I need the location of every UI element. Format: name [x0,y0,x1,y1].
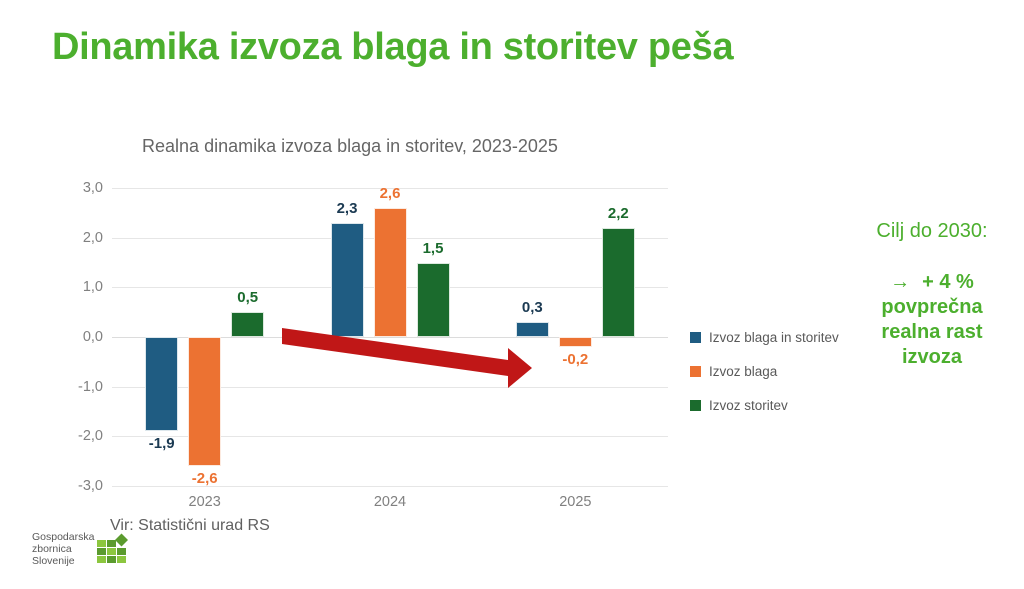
logo-text: Gospodarska zbornica Slovenije [32,531,94,567]
y-axis-tick-label: 1,0 [83,279,103,295]
bar-value-label: 2,3 [337,200,358,217]
bar-2024-series-2[interactable] [417,263,450,338]
legend-item-izvoz-blaga[interactable]: Izvoz blaga [690,354,865,388]
logo-grid-mark-icon [97,532,133,566]
y-axis-tick-label: -3,0 [78,478,103,494]
bar-value-label: 2,6 [380,185,401,202]
callout-line-2: povprečna [881,296,982,318]
callout-body: →+ 4 % povprečna realna rast izvoza [852,270,1012,370]
bar-2025-series-0[interactable] [516,322,549,337]
arrow-right-icon: → [890,271,910,293]
chart-title: Realna dinamika izvoza blaga in storitev… [0,136,700,157]
y-axis-tick-label: 3,0 [83,180,103,196]
source-note: Vir: Statistični urad RS [110,517,270,535]
bar-2023-series-0[interactable] [145,337,178,431]
legend-item-label: Izvoz blaga [709,364,777,379]
legend-item-label: Izvoz storitev [709,398,788,413]
bar-value-label: -0,2 [562,351,588,368]
y-axis-tick-label: 2,0 [83,230,103,246]
chart-legend: Izvoz blaga in storitev Izvoz blaga Izvo… [690,320,865,422]
bar-value-label: -2,6 [192,470,218,487]
bar-value-label: 0,3 [522,299,543,316]
bar-2025-series-1[interactable] [559,337,592,347]
y-axis-tick-label: -1,0 [78,379,103,395]
logo-line-1: Gospodarska [32,531,94,543]
bar-value-label: 2,2 [608,205,629,222]
x-axis-tick-label: 2025 [559,494,591,510]
callout-line-4: izvoza [902,346,962,368]
logo-line-2: zbornica [32,543,94,555]
legend-item-izvoz-blaga-in-storitev[interactable]: Izvoz blaga in storitev [690,320,865,354]
callout-value: + 4 % [922,271,974,293]
legend-swatch-icon [690,366,701,377]
bar-2023-series-2[interactable] [231,312,264,337]
chart-container: Realna dinamika izvoza blaga in storitev… [0,120,700,520]
y-axis-tick-label: 0,0 [83,329,103,345]
callout-line-3: realna rast [881,321,982,343]
legend-swatch-icon [690,332,701,343]
bar-value-label: -1,9 [149,435,175,452]
bar-2023-series-1[interactable] [188,337,221,466]
bar-value-label: 1,5 [423,240,444,257]
callout-value-line: →+ 4 % [852,270,1012,295]
callout-heading: Cilj do 2030: [852,218,1012,244]
x-axis-tick-label: 2024 [374,494,406,510]
y-axis-tick-label: -2,0 [78,428,103,444]
bar-2024-series-0[interactable] [331,223,364,337]
page-title: Dinamika izvoza blaga in storitev peša [52,26,733,69]
legend-item-izvoz-storitev[interactable]: Izvoz storitev [690,388,865,422]
slide-canvas: Dinamika izvoza blaga in storitev peša R… [0,0,1024,589]
chart-plot-area: 3,02,01,00,0-1,0-2,0-3,02023-1,9-2,60,52… [112,188,668,486]
target-callout: Cilj do 2030: →+ 4 % povprečna realna ra… [852,218,1012,370]
gzs-logo[interactable]: Gospodarska zbornica Slovenije [32,531,133,567]
x-axis-tick-label: 2023 [189,494,221,510]
bar-2025-series-2[interactable] [602,228,635,337]
bar-value-label: 0,5 [237,289,258,306]
logo-line-3: Slovenije [32,555,94,567]
legend-item-label: Izvoz blaga in storitev [709,330,839,345]
legend-swatch-icon [690,400,701,411]
bar-2024-series-1[interactable] [374,208,407,337]
